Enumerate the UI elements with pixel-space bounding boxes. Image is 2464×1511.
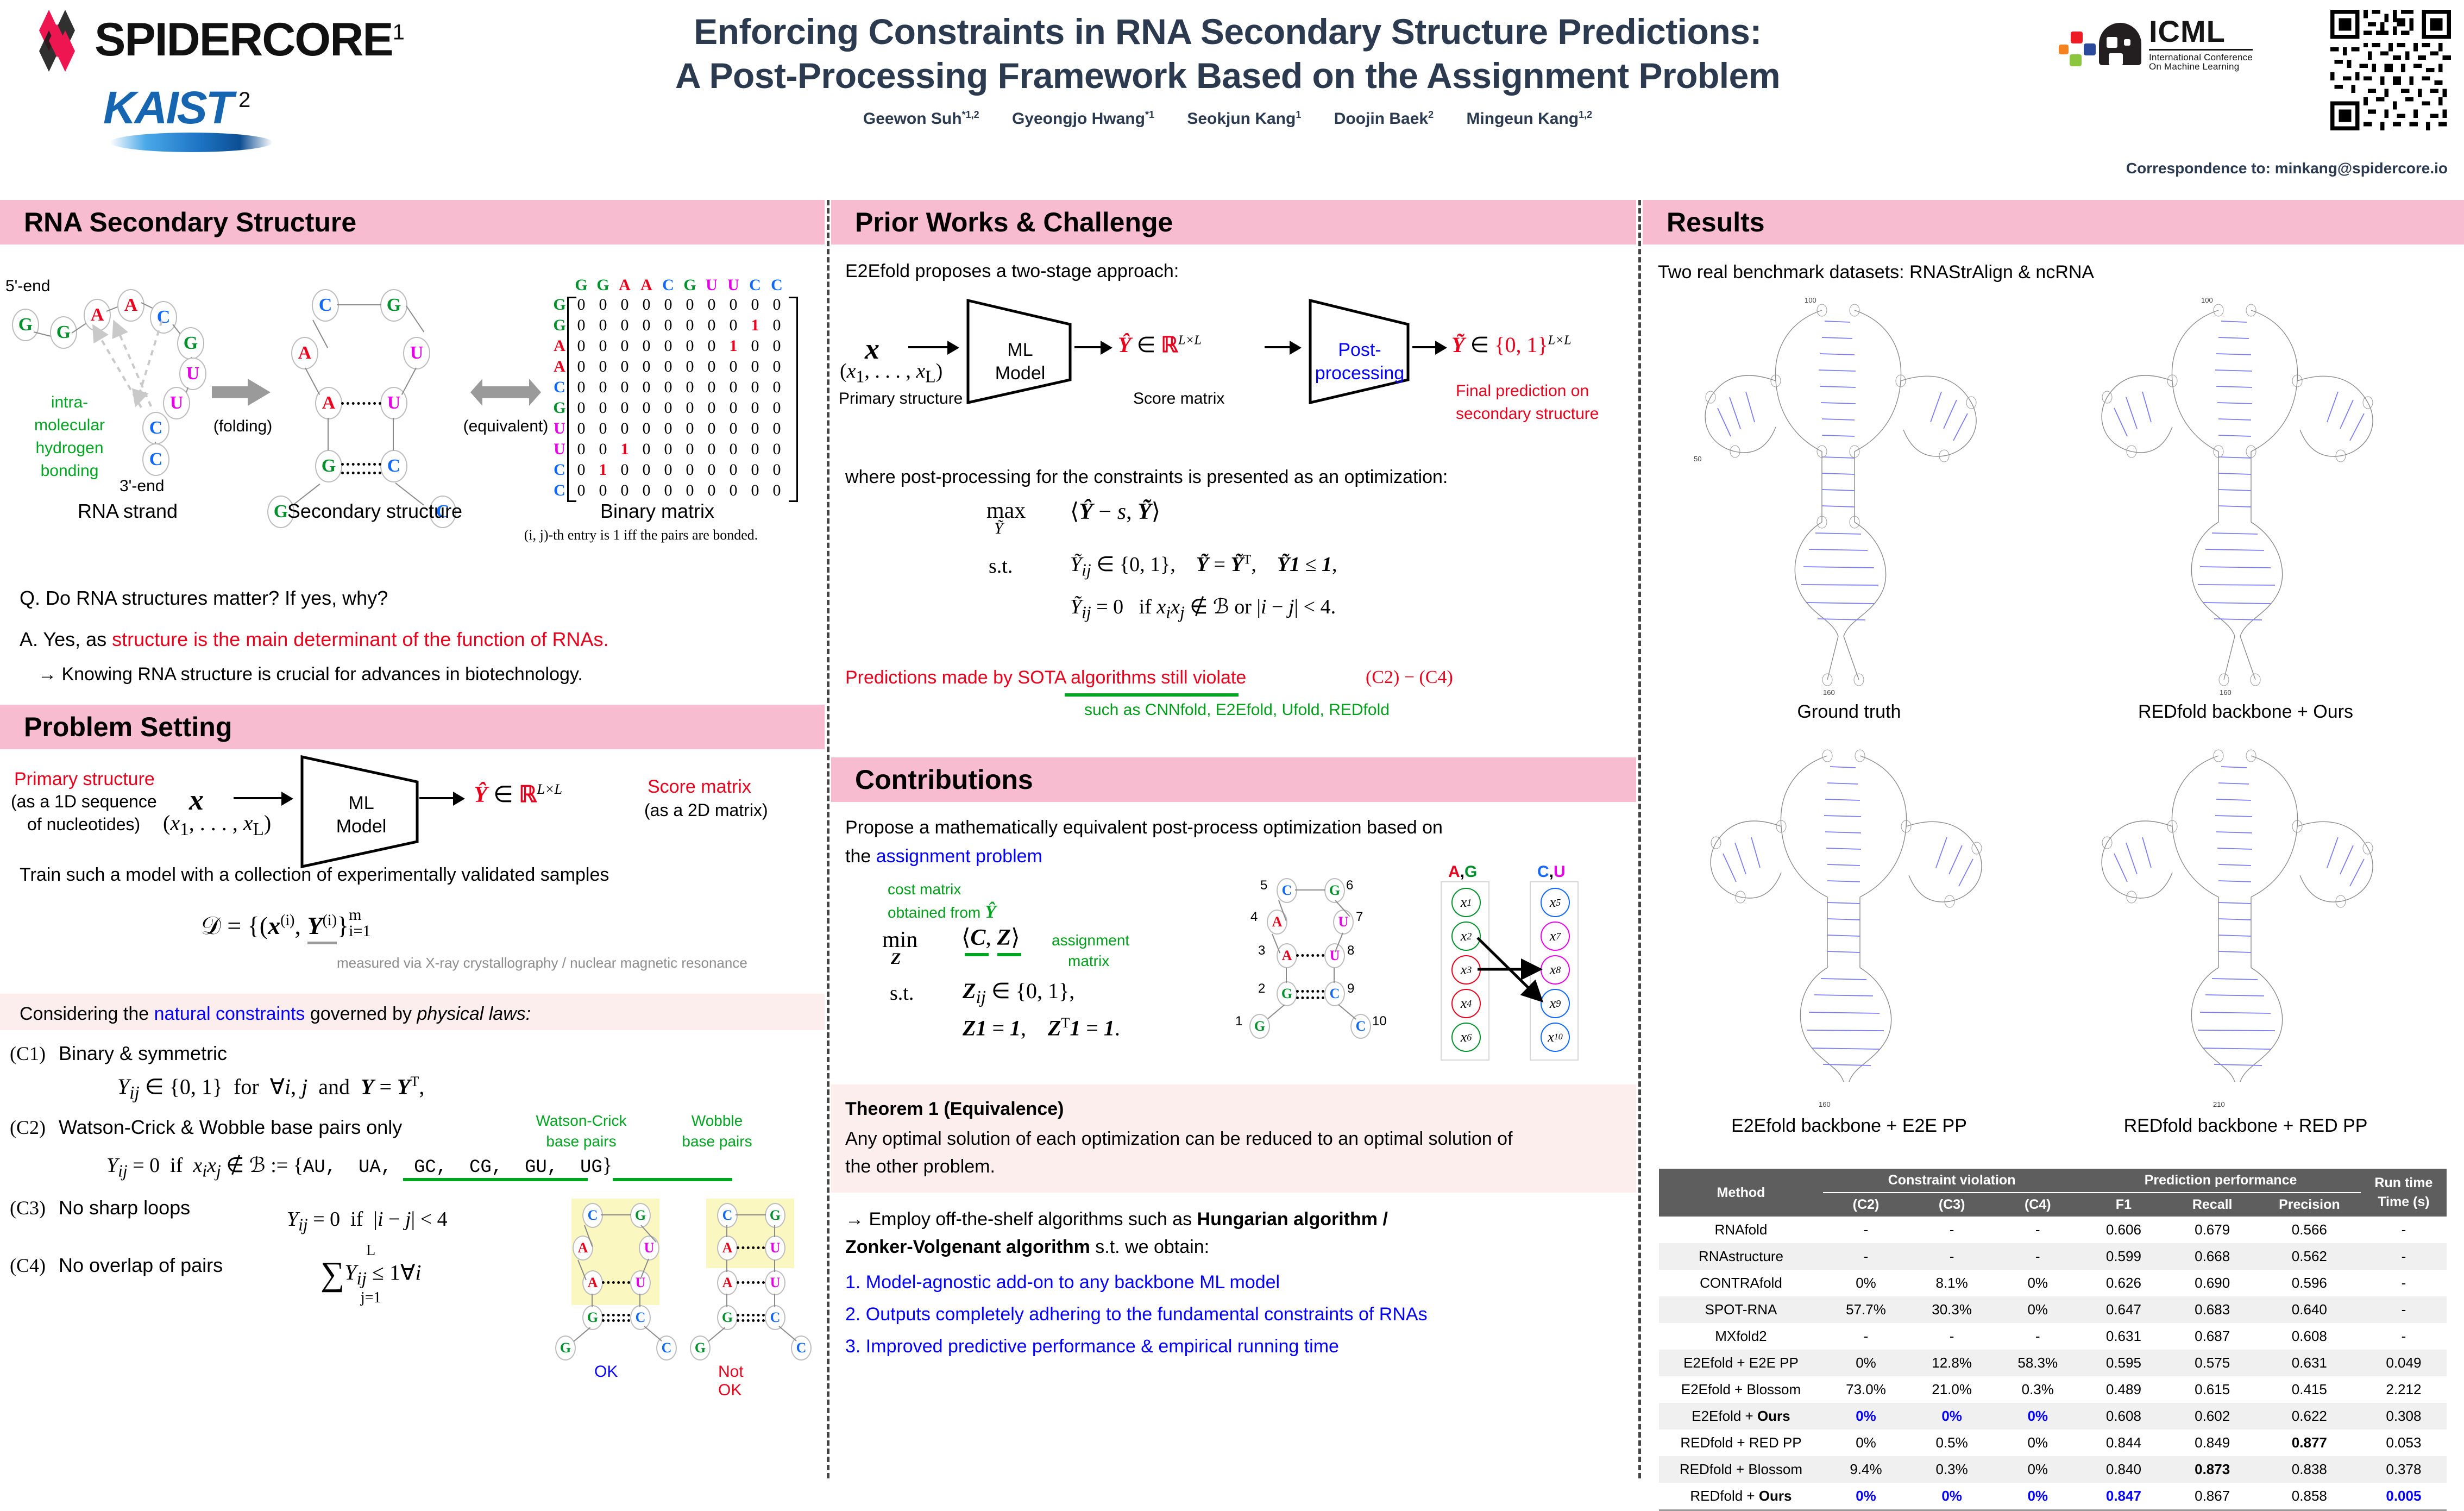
prior-challenge-text: Predictions made by SOTA algorithms stil… [831, 667, 1636, 749]
th-f1: F1 [2080, 1193, 2166, 1217]
contrib-bullet-3: 3. Improved predictive performance & emp… [845, 1336, 1622, 1357]
hydrogen-bonding-label: intra- molecular hydrogen bonding [26, 391, 113, 482]
rna-answer-arrow: → Knowing RNA structure is crucial for a… [38, 664, 808, 685]
equivalent-arrow-icon [470, 378, 523, 403]
prior-where-text: where post-processing for the constraint… [845, 467, 1622, 488]
rna-figure: 5'-end G G A A C G U U C C [0, 244, 825, 581]
matrix-cell: 0 [701, 399, 722, 417]
caption-secondary-structure: Secondary structure [244, 500, 505, 523]
matrix-cell: 0 [744, 461, 766, 479]
table-cell: 0% [1823, 1403, 1909, 1430]
matrix-cell: 0 [592, 337, 614, 355]
folding-arrow-icon [212, 378, 264, 403]
matrix-cell: 0 [744, 337, 766, 355]
matrix-cell: 0 [722, 481, 744, 500]
matrix-cell: 1 [744, 316, 766, 335]
table-cell: 0% [1995, 1430, 2080, 1456]
table-cell: - [1823, 1243, 1909, 1270]
figure-caption-redfold-ours: REDfold backbone + Ours [2056, 701, 2436, 723]
matrix-cell: 0 [679, 358, 701, 376]
matrix-cell: 0 [614, 378, 636, 397]
svg-text:160: 160 [2220, 688, 2232, 697]
table-cell: - [2361, 1243, 2447, 1270]
matrix-cell: 0 [614, 419, 636, 438]
train-text: Train such a model with a collection of … [20, 864, 609, 886]
table-cell: 0.562 [2258, 1243, 2361, 1270]
rna-plot-e2efold: 160 [1659, 739, 2039, 1120]
table-cell: 30.3% [1909, 1296, 1995, 1323]
icml-robot-icon [2099, 23, 2141, 65]
spidercore-text: SPIDERCORE [95, 14, 393, 66]
table-cell: 0% [1995, 1456, 2080, 1483]
table-cell: 0.631 [2258, 1350, 2361, 1376]
wc-underline [403, 1178, 588, 1181]
matrix-col-header: C [766, 276, 788, 294]
table-cell: 8.1% [1909, 1270, 1995, 1296]
matrix-cell: 0 [657, 358, 679, 376]
author-3: Doojin Baek2 [1334, 110, 1434, 128]
svg-text:50: 50 [1694, 455, 1701, 463]
table-cell: - [1823, 1217, 1909, 1243]
section-title-rna: RNA Secondary Structure [24, 206, 356, 238]
constraint-c2: (C2) Watson-Crick & Wobble base pairs on… [10, 1116, 402, 1139]
matrix-cell: 0 [614, 296, 636, 314]
th-run-time: Run time Time (s) [2361, 1169, 2447, 1217]
matrix-cell: 1 [614, 440, 636, 459]
table-cell: 0.049 [2361, 1350, 2447, 1376]
postprocessing-box: Post- processing [1320, 338, 1399, 385]
table-cell: 0.687 [2166, 1323, 2258, 1350]
table-cell: - [1995, 1217, 2080, 1243]
matrix-cell: 0 [701, 337, 722, 355]
table-cell: 0.575 [2166, 1350, 2258, 1376]
matrix-cell: 0 [657, 399, 679, 417]
matrix-cell: 0 [592, 440, 614, 459]
matrix-cell: 0 [744, 358, 766, 376]
matrix-cell: 0 [592, 481, 614, 500]
matrix-cell: 0 [679, 378, 701, 397]
table-cell: 0% [1823, 1483, 1909, 1510]
violate-text: Predictions made by SOTA algorithms stil… [845, 667, 1246, 688]
results-table-body: RNAfold---0.6060.6790.566-RNAstructure--… [1659, 1217, 2447, 1510]
matrix-cell: 0 [657, 296, 679, 314]
matrix-cell: 0 [636, 419, 657, 438]
matrix-cell: 0 [766, 419, 788, 438]
rna-plots-row-2: 160 [1643, 739, 2464, 1169]
table-cell: 0.566 [2258, 1217, 2361, 1243]
results-datasets-text: Two real benchmark datasets: RNAStrAlign… [1658, 262, 2449, 283]
matrix-col-header: A [614, 276, 636, 294]
prior-primary-structure-label: Primary structure [839, 390, 963, 408]
table-cell: 58.3% [1995, 1350, 2080, 1376]
assignment-matrix-label: assignment matrix [1052, 930, 1129, 971]
title-block: Enforcing Constraints in RNA Secondary S… [489, 10, 1966, 128]
table-cell: 0.679 [2166, 1217, 2258, 1243]
table-cell: - [2361, 1217, 2447, 1243]
table-cell: 0.838 [2258, 1456, 2361, 1483]
matrix-cell: 0 [744, 378, 766, 397]
th-c4: (C4) [1995, 1193, 2080, 1217]
equivalent-label: (equivalent) [460, 417, 552, 436]
matrix-row: C0000000000 [549, 480, 788, 501]
matrix-cell: 0 [614, 481, 636, 500]
icml-subtitle-2: On Machine Learning [2149, 62, 2253, 71]
rna-plot-ground-truth: 100 160 50 [1659, 289, 2039, 701]
matrix-cell: 0 [636, 337, 657, 355]
section-header-problem: Problem Setting [0, 705, 825, 749]
prior-pipeline-figure: x (x1, . . . , xL) Primary structure ML … [831, 282, 1636, 467]
kaist-logo: KAIST 2 [103, 85, 250, 130]
matrix-cell: 0 [679, 316, 701, 335]
table-cell: 0.873 [2166, 1456, 2258, 1483]
matrix-cell: 0 [614, 358, 636, 376]
contrib-bullet-2: 2. Outputs completely adhering to the fu… [845, 1304, 1622, 1325]
svg-text:160: 160 [1819, 1100, 1831, 1108]
prior-intro: E2Efold proposes a two-stage approach: [845, 261, 1622, 282]
matrix-col-header: G [679, 276, 701, 294]
table-cell: 0.626 [2080, 1270, 2166, 1296]
table-cell: 0.602 [2166, 1403, 2258, 1430]
caption-binary-matrix: Binary matrix [538, 500, 777, 523]
primary-structure-label: Primary structure [14, 769, 155, 790]
matrix-row: U0000000000 [549, 418, 788, 439]
page-title-line2: A Post-Processing Framework Based on the… [489, 54, 1966, 98]
matrix-cell: 0 [701, 440, 722, 459]
table-cell-method: MXfold2 [1659, 1323, 1823, 1350]
svg-text:160: 160 [1823, 688, 1835, 697]
table-cell: 0.690 [2166, 1270, 2258, 1296]
matrix-col-header: C [744, 276, 766, 294]
kaist-superscript: 2 [238, 88, 250, 112]
section-header-prior: Prior Works & Challenge [831, 200, 1636, 244]
theorem-title: Theorem 1 (Equivalence) [845, 1099, 1622, 1120]
matrix-cell: 0 [636, 481, 657, 500]
matrix-cell: 0 [766, 481, 788, 500]
matrix-cell: 0 [679, 481, 701, 500]
score-matrix-label: Score matrix [648, 776, 751, 798]
matrix-cell: 0 [722, 440, 744, 459]
table-row: MXfold2---0.6310.6870.608- [1659, 1323, 2447, 1350]
table-cell: 0.668 [2166, 1243, 2258, 1270]
matrix-cell: 0 [701, 378, 722, 397]
contrib-propose-l1: Propose a mathematically equivalent post… [845, 817, 1622, 838]
table-cell: 0.840 [2080, 1456, 2166, 1483]
table-row: REDfold + Blossom9.4%0.3%0%0.8400.8730.8… [1659, 1456, 2447, 1483]
table-cell-method: E2Efold + E2E PP [1659, 1350, 1823, 1376]
th-constraint-violation: Constraint violation [1823, 1169, 2080, 1193]
table-cell: 0.053 [2361, 1430, 2447, 1456]
table-cell: 0% [1995, 1483, 2080, 1510]
spidercore-logo: SPIDERCORE1 [27, 9, 404, 73]
prior-ml-model-box: ML Model [988, 338, 1053, 385]
author-0: Geewon Suh*1,2 [863, 110, 979, 128]
poster-columns: RNA Secondary Structure 5'-end G G A A C… [0, 200, 2464, 1478]
matrix-cell: 0 [679, 337, 701, 355]
matrix-cell: 0 [679, 419, 701, 438]
matrix-cell: 0 [722, 461, 744, 479]
matrix-col-header: U [701, 276, 722, 294]
matrix-cell: 0 [592, 378, 614, 397]
matrix-cell: 0 [636, 316, 657, 335]
matrix-cell: 0 [614, 337, 636, 355]
table-row: SPOT-RNA57.7%30.3%0%0.6470.6830.640- [1659, 1296, 2447, 1323]
table-cell: 12.8% [1909, 1350, 1995, 1376]
constraint-c1: (C1) Binary & symmetric [10, 1042, 227, 1065]
matrix-row: C0000000000 [549, 377, 788, 398]
th-c2: (C2) [1823, 1193, 1909, 1217]
kaist-label: KAIST [103, 85, 232, 130]
svg-text:100: 100 [2201, 296, 2213, 304]
matrix-cell: 0 [592, 419, 614, 438]
table-cell: 0% [1909, 1403, 1995, 1430]
matrix-col-header: G [592, 276, 614, 294]
rna-plot-redfold-redpp: 210 [2056, 739, 2436, 1120]
prior-score-matrix-label: Score matrix [1133, 390, 1224, 408]
matrix-cell: 0 [636, 378, 657, 397]
ml-model-box: ML Model [326, 792, 397, 838]
column-divider-2 [1638, 200, 1641, 1478]
rna-plot-redfold-ours: 100 160 [2056, 289, 2436, 701]
results-table-wrapper: Method Constraint violation Prediction p… [1643, 1169, 2464, 1511]
matrix-note: (i, j)-th entry is 1 iff the pairs are b… [462, 527, 820, 543]
matrix-cell: 0 [592, 358, 614, 376]
violate-constraints-tag: (C2) − (C4) [1366, 667, 1453, 688]
table-cell: - [1995, 1243, 2080, 1270]
constraints-list: (C1) Binary & symmetric Yij ∈ {0, 1} for… [0, 1030, 825, 1313]
qr-code-icon[interactable] [2330, 10, 2451, 130]
icml-wordmark: ICML [2149, 16, 2253, 47]
section-header-results: Results [1643, 200, 2464, 244]
matrix-cell: 0 [657, 481, 679, 500]
table-cell: 0% [1909, 1483, 1995, 1510]
theorem-box: Theorem 1 (Equivalence) Any optimal solu… [831, 1084, 1636, 1193]
matrix-cell: 0 [744, 296, 766, 314]
rna-answer: A. Yes, as structure is the main determi… [20, 628, 808, 651]
table-row: REDfold + Ours0%0%0%0.8470.8670.8580.005 [1659, 1483, 2447, 1510]
matrix-cell: 0 [744, 481, 766, 500]
results-table-head: Method Constraint violation Prediction p… [1659, 1169, 2447, 1217]
table-cell: - [1909, 1243, 1995, 1270]
matrix-col-header: C [657, 276, 679, 294]
sota-underline [1065, 693, 1239, 697]
theorem-line2: the other problem. [845, 1156, 1622, 1177]
poster-root: SPIDERCORE1 KAIST 2 Enforcing Constraint… [0, 0, 2464, 1478]
assign-underline [997, 953, 1021, 956]
primary-structure-sub2: of nucleotides) [27, 814, 140, 835]
matrix-cell: 0 [614, 316, 636, 335]
th-c3: (C3) [1909, 1193, 1995, 1217]
table-cell: - [1995, 1323, 2080, 1350]
matrix-cell: 0 [701, 461, 722, 479]
matrix-row: C0100000000 [549, 460, 788, 480]
kaist-lens-icon [110, 133, 273, 152]
table-cell: 0% [1995, 1296, 2080, 1323]
section-header-contrib: Contributions [831, 757, 1636, 802]
table-cell: - [1823, 1323, 1909, 1350]
matrix-cell: 0 [766, 399, 788, 417]
matrix-cell: 0 [701, 419, 722, 438]
matrix-cell: 0 [636, 296, 657, 314]
matrix-row: A0000000100 [549, 336, 788, 356]
table-cell: 0.858 [2258, 1483, 2361, 1510]
table-cell: 0% [1995, 1403, 2080, 1430]
table-cell: - [1909, 1323, 1995, 1350]
matrix-row: G0000000000 [549, 294, 788, 315]
author-4: Mingeun Kang1,2 [1466, 110, 1592, 128]
table-row: E2Efold + Blossom73.0%21.0%0.3%0.4890.61… [1659, 1376, 2447, 1403]
column-right: Results Two real benchmark datasets: RNA… [1643, 200, 2464, 1478]
matrix-cell: 0 [722, 296, 744, 314]
column-left: RNA Secondary Structure 5'-end G G A A C… [0, 200, 825, 1478]
matrix-cell: 0 [722, 358, 744, 376]
table-cell: 0.867 [2166, 1483, 2258, 1510]
matrix-cell: 0 [657, 440, 679, 459]
matrix-cell: 0 [679, 399, 701, 417]
icml-subtitle-1: International Conference [2149, 53, 2253, 62]
author-2: Seokjun Kang1 [1187, 110, 1301, 128]
matrix-cell: 0 [679, 440, 701, 459]
caption-rna-strand: RNA strand [11, 500, 244, 523]
matrix-cell: 0 [722, 378, 744, 397]
matrix-cell: 0 [766, 358, 788, 376]
matrix-cell: 0 [766, 316, 788, 335]
column-middle: Prior Works & Challenge E2Efold proposes… [831, 200, 1636, 1478]
correspondence-text: Correspondence to: minkang@spidercore.io [2126, 160, 2448, 177]
table-cell: 0.844 [2080, 1430, 2166, 1456]
problem-pipeline-figure: Primary structure (as a 1D sequence of n… [0, 749, 825, 912]
dataset-formula: 𝒟 = {(x(i), Y(i)}mi=1 measured via X-ray… [0, 912, 825, 994]
svg-text:210: 210 [2213, 1100, 2225, 1108]
author-1: Gyeongjo Hwang*1 [1012, 110, 1154, 128]
matrix-cell: 0 [701, 358, 722, 376]
table-cell: 0% [1823, 1270, 1909, 1296]
matrix-cell: 0 [679, 461, 701, 479]
table-cell: 0.622 [2258, 1403, 2361, 1430]
matrix-cell: 0 [722, 316, 744, 335]
table-cell: 9.4% [1823, 1456, 1909, 1483]
table-cell: 21.0% [1909, 1376, 1995, 1403]
table-cell: 2.212 [2361, 1376, 2447, 1403]
table-cell-method: CONTRAfold [1659, 1270, 1823, 1296]
section-title-contrib: Contributions [855, 764, 1033, 795]
table-cell: 73.0% [1823, 1376, 1909, 1403]
column-divider-1 [827, 200, 829, 1478]
table-cell: 0.005 [2361, 1483, 2447, 1510]
dataset-note: measured via X-ray crystallography / nuc… [337, 955, 747, 971]
matrix-cell: 0 [744, 419, 766, 438]
matrix-cell: 0 [657, 378, 679, 397]
matrix-row: U0010000000 [549, 439, 788, 460]
icml-text-block: ICML International Conference On Machine… [2149, 16, 2253, 71]
table-cell: 0.3% [1909, 1456, 1995, 1483]
matrix-row: A0000000000 [549, 356, 788, 377]
table-cell: 0.615 [2166, 1376, 2258, 1403]
table-row: RNAfold---0.6060.6790.566- [1659, 1217, 2447, 1243]
matrix-cell: 1 [722, 337, 744, 355]
assignment-figure: cost matrix obtained from Ŷ minZ ⟨C, Z⟩ … [831, 867, 1636, 1084]
matrix-cell: 0 [722, 399, 744, 417]
table-cell: 0% [1823, 1350, 1909, 1376]
table-cell: 0.683 [2166, 1296, 2258, 1323]
table-cell: 57.7% [1823, 1296, 1909, 1323]
matrix-cell: 0 [657, 337, 679, 355]
constraint-c3: (C3) No sharp loops [10, 1196, 190, 1219]
table-cell: 0.415 [2258, 1376, 2361, 1403]
table-cell: 0.308 [2361, 1403, 2447, 1430]
page-title-line1: Enforcing Constraints in RNA Secondary S… [489, 10, 1966, 54]
section-title-prior: Prior Works & Challenge [855, 206, 1173, 238]
matrix-cell: 0 [614, 461, 636, 479]
affiliation-logos: SPIDERCORE1 KAIST 2 [16, 3, 429, 150]
figure-caption-ground-truth: Ground truth [1659, 701, 2039, 723]
matrix-cell: 0 [766, 461, 788, 479]
matrix-cell: 0 [766, 337, 788, 355]
matrix-cell: 0 [614, 399, 636, 417]
final-prediction-label: Final prediction on secondary structure [1456, 380, 1599, 425]
matrix-row: G0000000000 [549, 398, 788, 418]
table-cell: 0% [1995, 1270, 2080, 1296]
matrix-cell: 0 [701, 296, 722, 314]
table-cell-method: REDfold + Blossom [1659, 1456, 1823, 1483]
table-cell: 0.489 [2080, 1376, 2166, 1403]
matrix-cell: 0 [636, 440, 657, 459]
matrix-cell: 0 [636, 358, 657, 376]
table-cell: - [2361, 1296, 2447, 1323]
rna-plots-row-1: 100 160 50 [1643, 289, 2464, 739]
icml-dots-icon [2059, 25, 2097, 63]
employ-line2: Zonker-Volgenant algorithm s.t. we obtai… [845, 1237, 1622, 1258]
matrix-cell: 0 [679, 296, 701, 314]
cost-matrix-label: cost matrix obtained from Ŷ [888, 879, 996, 925]
three-prime-label: 3'-end [120, 477, 164, 496]
folding-label: (folding) [208, 417, 278, 436]
matrix-cell: 0 [636, 461, 657, 479]
theorem-line1: Any optimal solution of each optimizatio… [845, 1128, 1622, 1150]
binary-matrix: GGAACGUUCCG0000000000G0000000010A0000000… [549, 276, 788, 501]
results-table: Method Constraint violation Prediction p… [1659, 1169, 2447, 1511]
th-precision: Precision [2258, 1193, 2361, 1217]
matrix-cell: 0 [592, 296, 614, 314]
notok-label: Not OK [718, 1363, 744, 1400]
matrix-cell: 0 [701, 316, 722, 335]
spidercore-superscript: 1 [393, 20, 404, 44]
table-cell: 0.640 [2258, 1296, 2361, 1323]
constraints-intro: Considering the natural constraints gove… [20, 1004, 805, 1025]
primary-structure-sub1: (as a 1D sequence [11, 792, 157, 812]
matrix-cell: 0 [722, 419, 744, 438]
matrix-cell: 0 [592, 316, 614, 335]
table-cell-method: RNAfold [1659, 1217, 1823, 1243]
figure-caption-e2efold: E2Efold backbone + E2E PP [1659, 1115, 2039, 1137]
svg-text:100: 100 [1805, 296, 1816, 304]
contrib-bullet-1: 1. Model-agnostic add-on to any backbone… [845, 1272, 1622, 1293]
table-cell: - [2361, 1323, 2447, 1350]
icml-logo: ICML International Conference On Machine… [2059, 16, 2253, 71]
table-cell: - [2361, 1270, 2447, 1296]
wobble-underline [613, 1178, 732, 1181]
matrix-cell: 0 [657, 419, 679, 438]
cost-underline [965, 953, 989, 956]
matrix-cell: 0 [657, 461, 679, 479]
table-cell-method: REDfold + RED PP [1659, 1430, 1823, 1456]
matrix-cell: 0 [766, 378, 788, 397]
such-as-algorithms: such as CNNfold, E2Efold, Ufold, REDfold [1084, 701, 1390, 719]
matrix-cell: 0 [657, 316, 679, 335]
th-method: Method [1659, 1169, 1823, 1217]
table-cell-method: E2Efold + Ours [1659, 1403, 1823, 1430]
matrix-cell: 1 [592, 461, 614, 479]
table-cell: 0.596 [2258, 1270, 2361, 1296]
